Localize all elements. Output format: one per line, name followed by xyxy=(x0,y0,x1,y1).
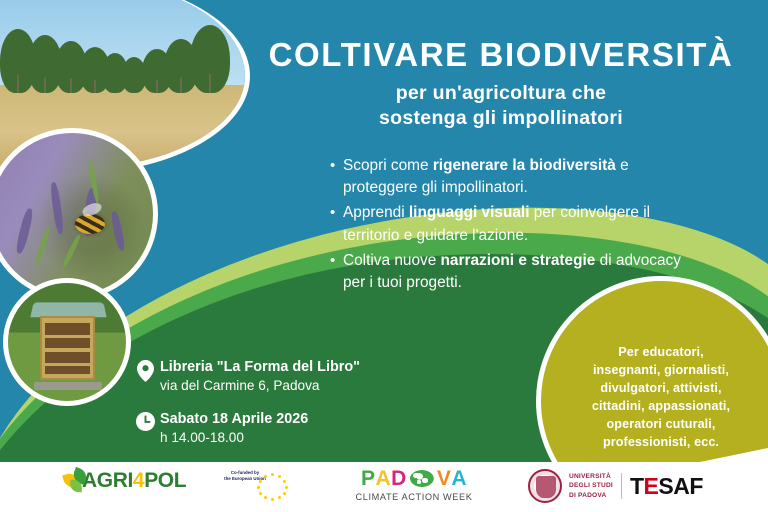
event-hours: h 14.00-18.00 xyxy=(160,429,360,447)
logo-bar: AGRI4POL Co-funded by the European Union xyxy=(0,462,768,512)
insect-hotel-photo xyxy=(3,278,131,406)
unipd-seal-icon xyxy=(528,469,562,503)
eu-caption-line-2: the European Union xyxy=(212,476,278,482)
globe-icon xyxy=(410,470,434,487)
leaf-icon xyxy=(62,468,88,494)
padova-letter-d: D xyxy=(391,468,407,489)
padova-caption: CLIMATE ACTION WEEK xyxy=(344,492,484,502)
venue-row: Libreria "La Forma del Libro" via del Ca… xyxy=(130,358,360,395)
unipd-line-1: Università xyxy=(569,472,613,482)
audience-line: Per educatori, xyxy=(592,344,730,362)
photo-tree-row xyxy=(0,5,245,93)
headline-block: COLTIVARE BIODIVERSITÀ per un'agricoltur… xyxy=(245,38,757,130)
bumblebee xyxy=(75,214,105,234)
agri4pol-wordmark: AGRI4POL xyxy=(82,469,186,493)
padova-letter-a1: A xyxy=(375,468,391,489)
poster-title: COLTIVARE BIODIVERSITÀ xyxy=(245,38,757,72)
venue-lines: Libreria "La Forma del Libro" via del Ca… xyxy=(160,358,360,395)
unipd-line-2: degli Studi xyxy=(569,481,613,491)
poster-subtitle-line-2: sostenga gli impollinatori xyxy=(245,106,757,130)
university-of-padova-logo: Università degli Studi di Padova TESAF xyxy=(528,469,703,503)
event-date: Sabato 18 Aprile 2026 xyxy=(160,410,360,429)
unipd-line-3: di Padova xyxy=(569,491,613,501)
bullet-text: Apprendi linguaggi visuali per coinvolge… xyxy=(343,202,705,246)
footer-diagonal-cut xyxy=(0,448,768,462)
audience-text: Per educatori, insegnanti, giornalisti, … xyxy=(576,344,746,457)
insect-hotel-base xyxy=(34,382,102,390)
padova-climate-action-week-logo: P A D V A CLIMATE ACTION WEEK xyxy=(344,468,484,502)
bullet-dot-icon: • xyxy=(330,250,343,294)
map-pin-icon xyxy=(130,358,160,382)
bullet-item: • Scopri come rigenerare la biodiversità… xyxy=(330,155,705,199)
padova-letter-a2: A xyxy=(451,468,467,489)
venue-address: via del Carmine 6, Padova xyxy=(160,377,360,395)
audience-line: operatori cuturali, xyxy=(592,416,730,434)
bullet-dot-icon: • xyxy=(330,155,343,199)
poster-subtitle-line-1: per un'agricoltura che xyxy=(245,81,757,105)
padova-letter-v: V xyxy=(437,468,452,489)
event-poster: COLTIVARE BIODIVERSITÀ per un'agricoltur… xyxy=(0,0,768,512)
logo-divider xyxy=(621,473,622,499)
venue-name: Libreria "La Forma del Libro" xyxy=(160,358,360,377)
padova-letter-p: P xyxy=(361,468,376,489)
poster-subtitle: per un'agricoltura che sostenga gli impo… xyxy=(245,81,757,130)
clock-icon xyxy=(130,410,160,431)
unipd-wordmark: Università degli Studi di Padova xyxy=(569,472,613,501)
event-details: Libreria "La Forma del Libro" via del Ca… xyxy=(130,358,360,462)
tesaf-wordmark: TESAF xyxy=(630,473,703,500)
bullet-dot-icon: • xyxy=(330,202,343,246)
agri4pol-logo: AGRI4POL xyxy=(62,468,186,494)
audience-line: cittadini, appassionati, xyxy=(592,398,730,416)
european-union-logo: Co-funded by the European Union xyxy=(212,468,278,481)
insect-hotel-body xyxy=(40,316,95,380)
datetime-lines: Sabato 18 Aprile 2026 h 14.00-18.00 xyxy=(160,410,360,447)
bullet-text: Scopri come rigenerare la biodiversità e… xyxy=(343,155,705,199)
datetime-row: Sabato 18 Aprile 2026 h 14.00-18.00 xyxy=(130,410,360,447)
bullet-item: • Apprendi linguaggi visuali per coinvol… xyxy=(330,202,705,246)
padova-wordmark: P A D V A xyxy=(344,468,484,489)
audience-line: divulgatori, attivisti, xyxy=(592,380,730,398)
audience-line: insegnanti, giornalisti, xyxy=(592,362,730,380)
